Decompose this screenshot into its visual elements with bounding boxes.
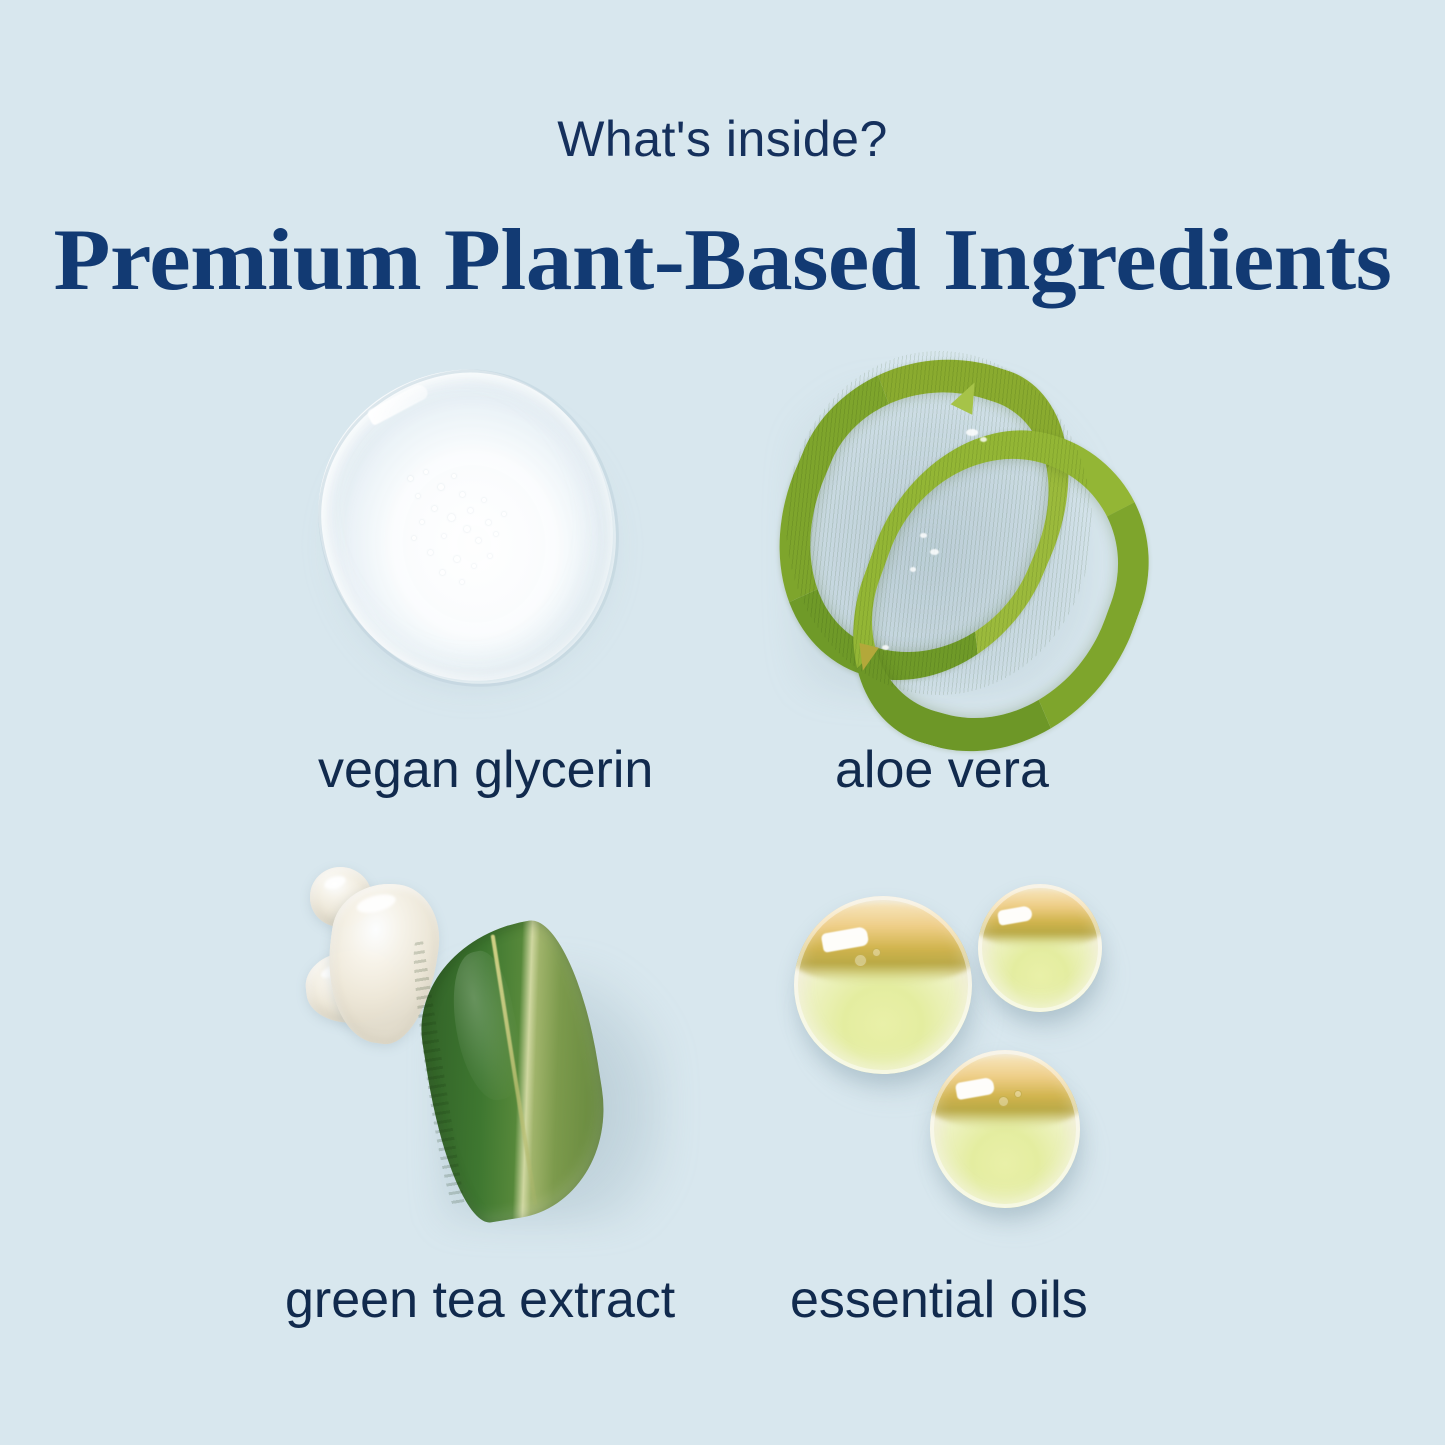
green-tea-image — [290, 855, 690, 1235]
ingredient-essential-oils — [780, 880, 1130, 1220]
oil-droplet-small — [978, 884, 1102, 1012]
aloe-gloss-5 — [910, 567, 916, 572]
oil-bubble-1a — [854, 954, 867, 967]
oil-rim-2 — [978, 884, 1102, 1012]
ingredient-green-tea-extract — [290, 855, 690, 1235]
ingredient-label-essential-oils: essential oils — [790, 1270, 1088, 1330]
ingredient-label-aloe-vera: aloe vera — [835, 740, 1049, 800]
oil-rim-1 — [794, 896, 972, 1074]
aloe-gloss-6 — [882, 645, 889, 650]
oil-bubble-3b — [1014, 1090, 1022, 1098]
ingredient-label-green-tea-extract: green tea extract — [285, 1270, 675, 1330]
aloe-gloss-2 — [980, 437, 987, 442]
aloe-gloss-4 — [930, 549, 939, 555]
aloe-vera-image — [770, 345, 1130, 720]
glycerin-bubbles — [398, 468, 528, 598]
ingredients-infographic: What's inside? Premium Plant-Based Ingre… — [0, 0, 1445, 1445]
ingredient-label-vegan-glycerin: vegan glycerin — [318, 740, 653, 800]
eyebrow-text: What's inside? — [0, 110, 1445, 168]
oil-bubble-3a — [998, 1096, 1009, 1107]
oil-bubble-1b — [872, 948, 881, 957]
ingredient-aloe-vera — [770, 345, 1130, 720]
vegan-glycerin-image — [300, 360, 630, 690]
ingredient-vegan-glycerin — [300, 360, 720, 720]
aloe-gloss-3 — [920, 533, 927, 538]
page-title: Premium Plant-Based Ingredients — [0, 210, 1445, 311]
essential-oils-image — [780, 880, 1130, 1220]
aloe-gloss-1 — [966, 429, 978, 436]
oil-droplet-medium — [930, 1050, 1080, 1208]
oil-droplet-large — [794, 896, 972, 1074]
oil-rim-3 — [930, 1050, 1080, 1208]
